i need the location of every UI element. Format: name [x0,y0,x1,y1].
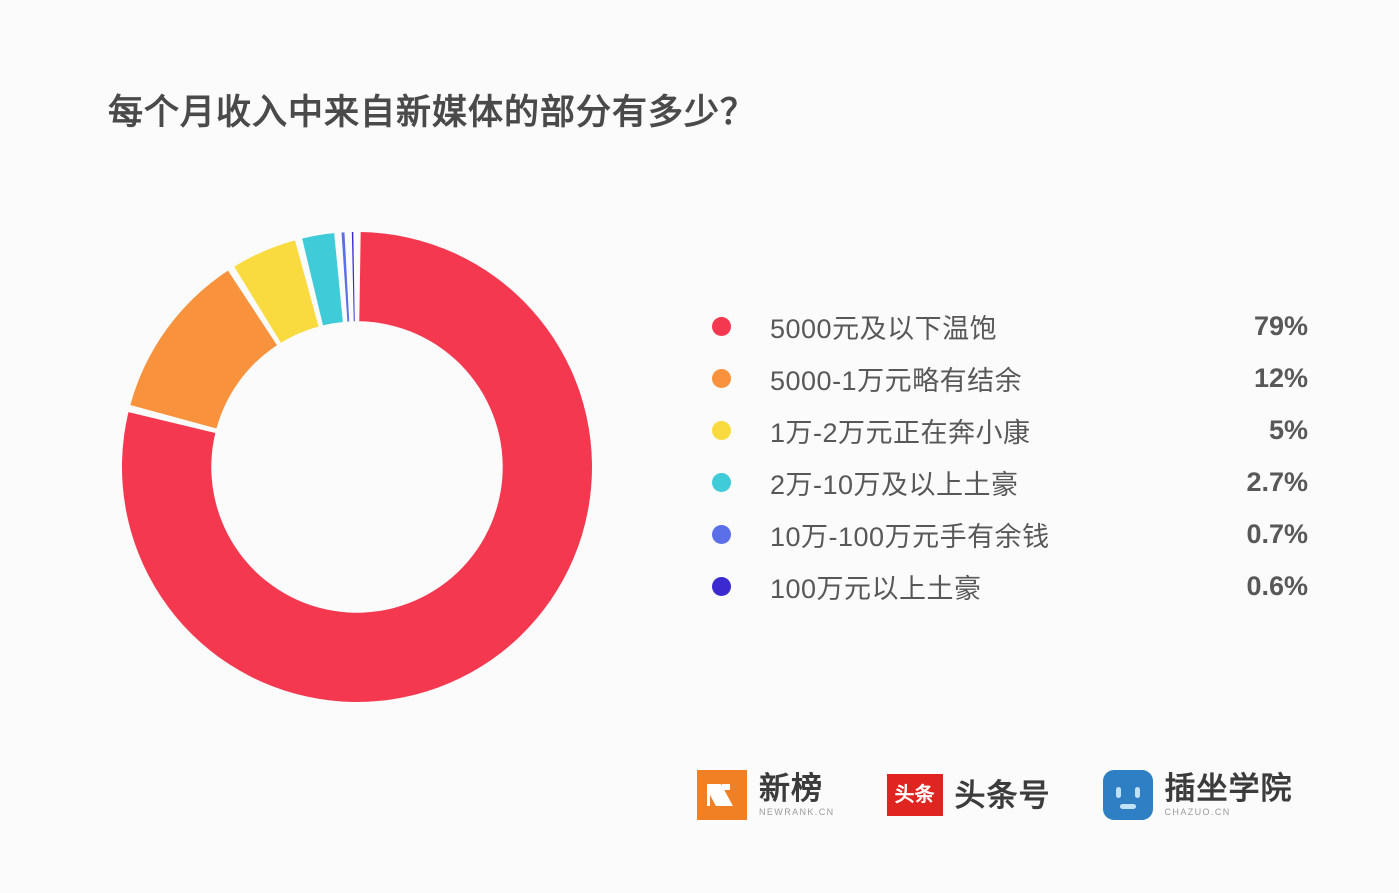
logo-name: 头条号 [955,780,1051,811]
legend-item-value: 5% [1188,415,1308,446]
newrank-n-icon [697,770,747,820]
legend-swatch-icon [712,369,731,388]
legend-swatch-icon [712,317,731,336]
footer-logo-bar: 新榜 NEWRANK.CN 头条 头条号 插坐学院 CHAZUO.CN [697,770,1293,820]
donut-slice[interactable] [342,232,350,321]
legend-item-label: 5000元及以下温饱 [770,307,1188,346]
legend-item-6[interactable]: 100万元以上土豪 0.6% [712,560,1308,612]
legend-item-1[interactable]: 5000元及以下温饱 79% [712,300,1308,352]
chazuo-face-icon [1103,770,1153,820]
legend-item-label: 5000-1万元略有结余 [770,359,1188,398]
legend-swatch-icon [712,473,731,492]
legend-item-label: 10万-100万元手有余钱 [770,515,1188,554]
slide-canvas: 每个月收入中来自新媒体的部分有多少？ 5000元及以下温饱 79% 5000-1… [0,0,1399,893]
legend-swatch-icon [712,577,731,596]
chazuo-eye-right-icon [1135,787,1140,798]
donut-slice[interactable] [352,232,355,321]
page-title: 每个月收入中来自新媒体的部分有多少？ [108,84,756,135]
donut-chart-svg [118,228,596,706]
logo-name: 插坐学院 [1165,773,1293,804]
legend-item-2[interactable]: 5000-1万元略有结余 12% [712,352,1308,404]
logo-toutiaohao-text: 头条号 [955,780,1051,811]
donut-chart [118,228,596,706]
legend-item-5[interactable]: 10万-100万元手有余钱 0.7% [712,508,1308,560]
logo-subtitle: CHAZUO.CN [1165,808,1293,817]
logo-name: 新榜 [759,773,835,804]
legend-item-value: 79% [1188,311,1308,342]
legend-item-4[interactable]: 2万-10万及以上土豪 2.7% [712,456,1308,508]
legend-item-label: 1万-2万元正在奔小康 [770,411,1188,450]
legend-swatch-icon [712,525,731,544]
legend-item-value: 0.7% [1188,519,1308,550]
chazuo-eye-left-icon [1116,787,1121,798]
legend-item-3[interactable]: 1万-2万元正在奔小康 5% [712,404,1308,456]
legend-item-value: 0.6% [1188,571,1308,602]
logo-toutiaohao[interactable]: 头条 头条号 [887,774,1051,816]
legend-item-label: 100万元以上土豪 [770,567,1188,606]
logo-subtitle: NEWRANK.CN [759,808,835,817]
chazuo-mouth-icon [1120,804,1136,809]
legend-item-label: 2万-10万及以上土豪 [770,463,1188,502]
legend-swatch-icon [712,421,731,440]
chart-legend: 5000元及以下温饱 79% 5000-1万元略有结余 12% 1万-2万元正在… [712,300,1308,612]
logo-newrank[interactable]: 新榜 NEWRANK.CN [697,770,835,820]
legend-item-value: 12% [1188,363,1308,394]
toutiao-icon: 头条 [887,774,943,816]
logo-newrank-text: 新榜 NEWRANK.CN [759,773,835,817]
logo-chazuo[interactable]: 插坐学院 CHAZUO.CN [1103,770,1293,820]
donut-slices[interactable] [122,232,592,702]
logo-chazuo-text: 插坐学院 CHAZUO.CN [1165,773,1293,817]
legend-item-value: 2.7% [1188,467,1308,498]
